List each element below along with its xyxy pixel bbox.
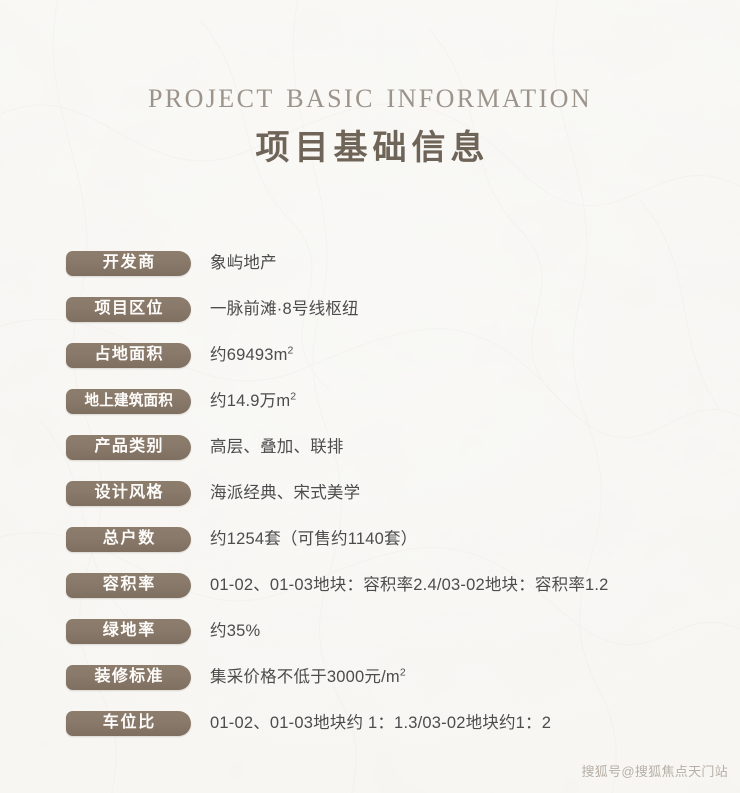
info-label-product-type: 产品类别 xyxy=(93,439,164,455)
info-value-product-type: 高层、叠加、联排 xyxy=(210,436,740,458)
info-label-location: 项目区位 xyxy=(93,301,164,317)
info-value-decoration-standard: 集采价格不低于3000元/m2 xyxy=(210,666,740,688)
info-label-chip-decoration-standard: 装修标准 xyxy=(66,665,191,690)
project-info-list: 开发商 象屿地产 项目区位 一脉前滩·8号线枢纽 占地面积 约69493m2 地… xyxy=(0,240,740,746)
info-label-decoration-standard: 装修标准 xyxy=(93,669,164,685)
info-value-developer: 象屿地产 xyxy=(210,252,740,274)
info-label-chip-green-ratio: 绿地率 xyxy=(66,619,191,644)
info-row-location: 项目区位 一脉前滩·8号线枢纽 xyxy=(0,286,740,332)
info-row-plot-ratio: 容积率 01-02、01-03地块：容积率2.4/03-02地块：容积率1.2 xyxy=(0,562,740,608)
info-row-above-ground-area: 地上建筑面积 约14.9万m2 xyxy=(0,378,740,424)
info-value-above-ground-area: 约14.9万m2 xyxy=(210,390,740,412)
info-value-above-ground-area-unit-exponent: 2 xyxy=(290,391,296,403)
info-row-parking-ratio: 车位比 01-02、01-03地块约 1：1.3/03-02地块约1：2 xyxy=(0,700,740,746)
info-label-developer: 开发商 xyxy=(101,255,156,271)
info-row-decoration-standard: 装修标准 集采价格不低于3000元/m2 xyxy=(0,654,740,700)
info-row-site-area: 占地面积 约69493m2 xyxy=(0,332,740,378)
info-label-above-ground-area: 地上建筑面积 xyxy=(84,394,173,409)
watermark: 搜狐号@搜狐焦点天门站 xyxy=(582,763,729,781)
page-title-english: Project Basic Information xyxy=(0,0,740,118)
info-value-location: 一脉前滩·8号线枢纽 xyxy=(210,298,740,320)
info-value-site-area-unit-exponent: 2 xyxy=(288,345,294,357)
info-value-above-ground-area-text: 约14.9万m xyxy=(210,392,290,410)
info-label-chip-design-style: 设计风格 xyxy=(66,481,191,506)
page-title-chinese: 项目基础信息 xyxy=(0,118,740,171)
info-row-developer: 开发商 象屿地产 xyxy=(0,240,740,286)
info-row-design-style: 设计风格 海派经典、宋式美学 xyxy=(0,470,740,516)
info-label-parking-ratio: 车位比 xyxy=(101,715,156,731)
info-row-product-type: 产品类别 高层、叠加、联排 xyxy=(0,424,740,470)
project-info-page: Project Basic Information 项目基础信息 开发商 象屿地… xyxy=(0,0,740,793)
info-label-chip-product-type: 产品类别 xyxy=(66,435,191,460)
info-label-chip-above-ground-area: 地上建筑面积 xyxy=(66,389,191,414)
info-label-total-units: 总户数 xyxy=(101,531,156,547)
info-value-parking-ratio: 01-02、01-03地块约 1：1.3/03-02地块约1：2 xyxy=(210,712,740,734)
info-row-green-ratio: 绿地率 约35% xyxy=(0,608,740,654)
info-label-green-ratio: 绿地率 xyxy=(101,623,156,639)
info-label-chip-developer: 开发商 xyxy=(66,251,191,276)
info-label-chip-site-area: 占地面积 xyxy=(66,343,191,368)
info-value-site-area-text: 约69493m xyxy=(210,346,288,364)
info-label-plot-ratio: 容积率 xyxy=(101,577,156,593)
info-value-site-area: 约69493m2 xyxy=(210,344,740,366)
info-row-total-units: 总户数 约1254套（可售约1140套） xyxy=(0,516,740,562)
info-value-decoration-standard-unit-exponent: 2 xyxy=(400,667,406,679)
info-value-plot-ratio: 01-02、01-03地块：容积率2.4/03-02地块：容积率1.2 xyxy=(210,574,740,596)
info-value-total-units: 约1254套（可售约1140套） xyxy=(210,528,740,550)
info-label-chip-location: 项目区位 xyxy=(66,297,191,322)
info-label-design-style: 设计风格 xyxy=(93,485,164,501)
info-label-site-area: 占地面积 xyxy=(93,347,164,363)
info-label-chip-parking-ratio: 车位比 xyxy=(66,711,191,736)
page-header: Project Basic Information 项目基础信息 xyxy=(0,0,740,171)
info-value-design-style: 海派经典、宋式美学 xyxy=(210,482,740,504)
info-value-decoration-standard-text: 集采价格不低于3000元/m xyxy=(210,668,400,686)
info-label-chip-plot-ratio: 容积率 xyxy=(66,573,191,598)
info-value-green-ratio: 约35% xyxy=(210,620,740,642)
info-label-chip-total-units: 总户数 xyxy=(66,527,191,552)
